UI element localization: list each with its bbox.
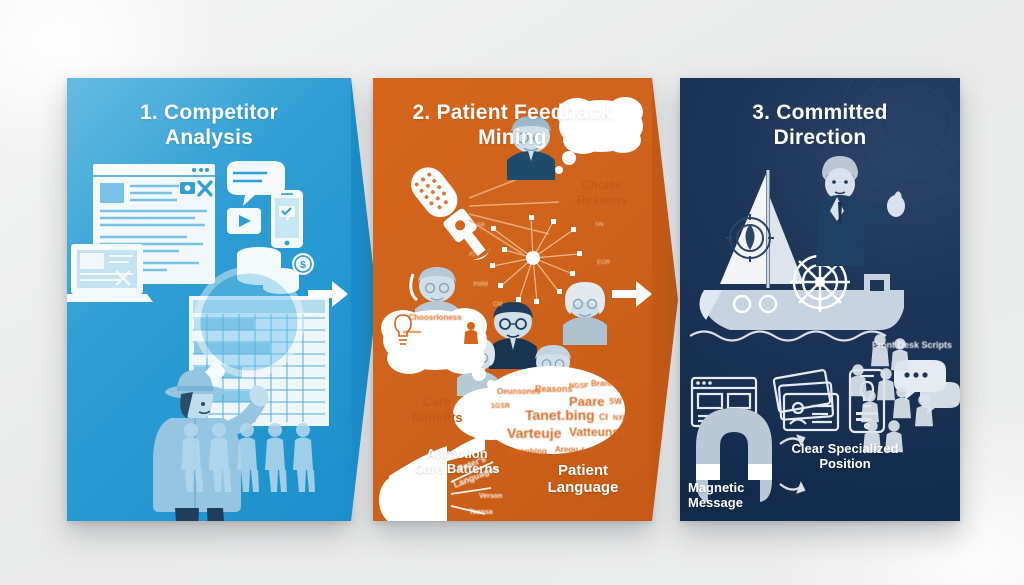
arrow-step-2-to-3 bbox=[612, 281, 652, 307]
svg-text:SB: SB bbox=[477, 222, 485, 228]
svg-text:Varteuje: Varteuje bbox=[507, 425, 562, 441]
patient-language-line2: Language bbox=[548, 479, 619, 496]
svg-text:✛: ✛ bbox=[579, 446, 587, 456]
patient-language-line1: Patient bbox=[558, 462, 608, 479]
arrow-step-1-to-2 bbox=[308, 281, 348, 307]
care-benefits-line2: Benefits bbox=[411, 410, 462, 425]
panel-2-title-line1: 2. Patient Feedback bbox=[413, 101, 613, 124]
svg-text:RWM: RWM bbox=[473, 282, 488, 288]
panel-2-title: 2. Patient Feedback Mining bbox=[373, 100, 652, 150]
clear-specialized-line2: Position bbox=[819, 456, 870, 471]
svg-text:Verson: Verson bbox=[479, 493, 502, 500]
svg-text:Teansa: Teansa bbox=[469, 509, 493, 516]
svg-text:Tanet.bing: Tanet.bing bbox=[525, 407, 595, 423]
choice-reasons-line1: Choice bbox=[582, 178, 622, 192]
attraction-care-patterns-label: Attraction Care Batterns bbox=[387, 446, 527, 476]
clear-specialized-position-label: Clear Specialized Position bbox=[780, 441, 910, 471]
care-benefits-bubble-text: Care Benefits bbox=[397, 394, 477, 426]
panel-1-title: 1. Competitor Analysis bbox=[67, 100, 351, 150]
svg-text:Areou: Areou bbox=[555, 445, 578, 454]
magnetic-message-line2: Message bbox=[688, 495, 743, 510]
panel-2-title-line2: Mining bbox=[478, 126, 547, 149]
panel-3-title: 3. Committed Direction bbox=[680, 100, 960, 150]
attraction-line2: Care Batterns bbox=[414, 461, 499, 476]
magnetic-message-label: Magnetic Message bbox=[688, 480, 792, 510]
svg-text:Vatteunss: Vatteunss bbox=[569, 425, 626, 439]
svg-text:NXNI: NXNI bbox=[613, 415, 630, 422]
clear-specialized-line1: Clear Specialized bbox=[792, 441, 899, 456]
panel-3-title-line2: Direction bbox=[774, 126, 867, 149]
patient-language-label: Patient Language bbox=[523, 462, 643, 496]
svg-text:SN: SN bbox=[595, 222, 603, 228]
attraction-line1: Attraction bbox=[426, 446, 487, 461]
svg-text:CI: CI bbox=[599, 412, 608, 422]
panel-patient-feedback-mining[interactable]: Choosrloness bbox=[373, 78, 652, 521]
svg-text:Reasons: Reasons bbox=[535, 384, 573, 394]
svg-text:EGR: EGR bbox=[597, 260, 611, 266]
magnetic-message-line1: Magnetic bbox=[688, 480, 744, 495]
svg-text:AT: AT bbox=[469, 252, 477, 258]
svg-text:Choosrloness: Choosrloness bbox=[408, 313, 462, 322]
svg-text:CM: CM bbox=[493, 302, 502, 308]
right-arrow-icon bbox=[308, 281, 348, 307]
svg-text:NGSF: NGSF bbox=[569, 383, 589, 390]
infographic-stage: $ bbox=[0, 0, 1024, 585]
choice-reasons-line2: Reasons bbox=[577, 193, 627, 207]
svg-text:$: $ bbox=[300, 260, 306, 271]
panel-committed-direction[interactable]: 3. Committed Direction Front Desk Script… bbox=[680, 78, 960, 521]
choice-reasons-bubble-text: Choice Reasons bbox=[559, 178, 645, 208]
svg-text:1GSR: 1GSR bbox=[491, 403, 510, 410]
right-arrow-icon-2 bbox=[612, 281, 652, 307]
svg-text:Branidos: Branidos bbox=[591, 379, 626, 388]
care-benefits-line1: Care bbox=[423, 394, 452, 409]
panel-1-title-line1: 1. Competitor bbox=[140, 101, 278, 124]
svg-text:SW: SW bbox=[609, 397, 622, 406]
front-desk-scripts-text: Front Desk Scripts bbox=[872, 340, 952, 350]
panel-3-title-line1: 3. Committed bbox=[752, 101, 887, 124]
front-desk-scripts-label: Front Desk Scripts bbox=[866, 340, 958, 351]
panel-1-title-line2: Analysis bbox=[165, 126, 253, 149]
